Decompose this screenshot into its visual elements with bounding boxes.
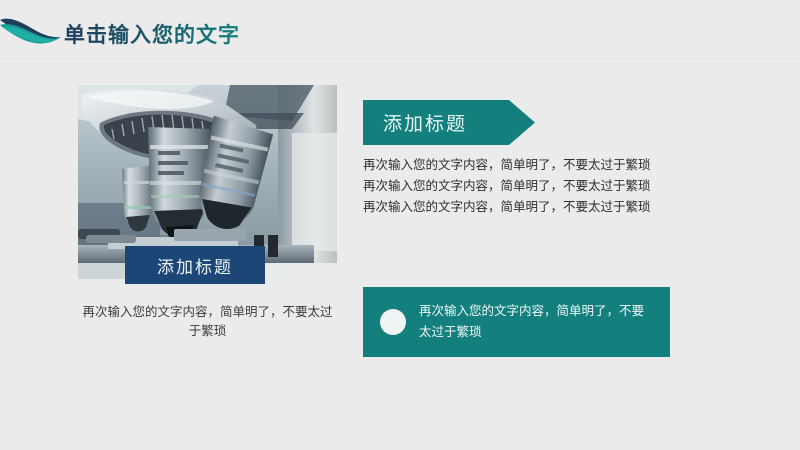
body-copy: 再次输入您的文字内容，简单明了，不要太过于繁琐 再次输入您的文字内容，简单明了，… bbox=[363, 155, 653, 218]
section-title-label: 添加标题 bbox=[383, 100, 467, 145]
callout-box: 再次输入您的文字内容，简单明了，不要太过于繁琐 bbox=[363, 287, 670, 357]
callout-text: 再次输入您的文字内容，简单明了，不要太过于繁琐 bbox=[419, 301, 654, 343]
slide-header: 单击输入您的文字 bbox=[0, 0, 800, 58]
header-divider bbox=[0, 58, 800, 59]
photo-title-badge: 添加标题 bbox=[125, 246, 265, 284]
section-title-ribbon: 添加标题 bbox=[363, 100, 535, 145]
photo-title-badge-label: 添加标题 bbox=[157, 253, 233, 278]
body-paragraph: 再次输入您的文字内容，简单明了，不要太过于繁琐 bbox=[363, 176, 653, 197]
microscope-photo-block: 添加标题 bbox=[78, 85, 337, 291]
body-paragraph: 再次输入您的文字内容，简单明了，不要太过于繁琐 bbox=[363, 197, 653, 218]
circle-bullet-icon bbox=[380, 309, 406, 335]
photo-caption: 再次输入您的文字内容，简单明了，不要太过于繁琐 bbox=[78, 303, 337, 341]
body-paragraph: 再次输入您的文字内容，简单明了，不要太过于繁琐 bbox=[363, 155, 653, 176]
page-title: 单击输入您的文字 bbox=[64, 19, 240, 49]
swoosh-icon bbox=[0, 12, 62, 48]
